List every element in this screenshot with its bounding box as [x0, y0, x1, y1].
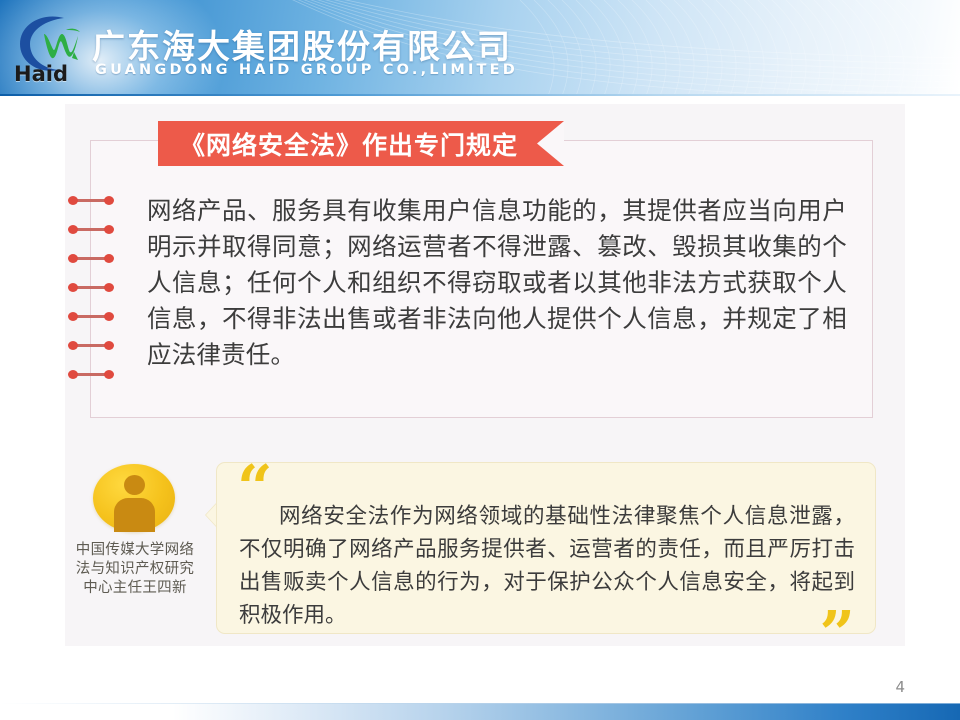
footer-bar	[0, 704, 960, 720]
haid-logo: Haid	[8, 8, 92, 88]
quote-close-icon: ”	[819, 603, 855, 665]
speaker-caption: 中国传媒大学网络法与知识产权研究中心主任王四新	[72, 541, 198, 598]
page-number: 4	[895, 678, 905, 696]
haid-logo-text: Haid	[14, 62, 68, 86]
regulation-body-text: 网络产品、服务具有收集用户信息功能的，其提供者应当向用户明示并取得同意；网络运营…	[147, 193, 847, 373]
company-name-en: GUANGDONG HAID GROUP CO.,LIMITED	[95, 62, 518, 78]
page-header: Haid 广东海大集团股份有限公司 GUANGDONG HAID GROUP C…	[0, 0, 960, 96]
speaker-avatar	[93, 464, 175, 532]
header-bottom-line	[0, 94, 960, 96]
avatar-person-body	[114, 498, 155, 532]
section-title-ribbon: 《网络安全法》作出专门规定	[158, 121, 564, 166]
company-name-cn: 广东海大集团股份有限公司	[92, 20, 512, 68]
section-title-text: 《网络安全法》作出专门规定	[180, 126, 518, 162]
spiral-binding-rings	[68, 196, 116, 382]
expert-quote-text: 网络安全法作为网络领域的基础性法律聚焦个人信息泄露，不仅明确了网络产品服务提供者…	[239, 500, 855, 632]
avatar-person-icon	[124, 475, 145, 495]
expert-quote-box: “ 网络安全法作为网络领域的基础性法律聚焦个人信息泄露，不仅明确了网络产品服务提…	[216, 462, 876, 634]
